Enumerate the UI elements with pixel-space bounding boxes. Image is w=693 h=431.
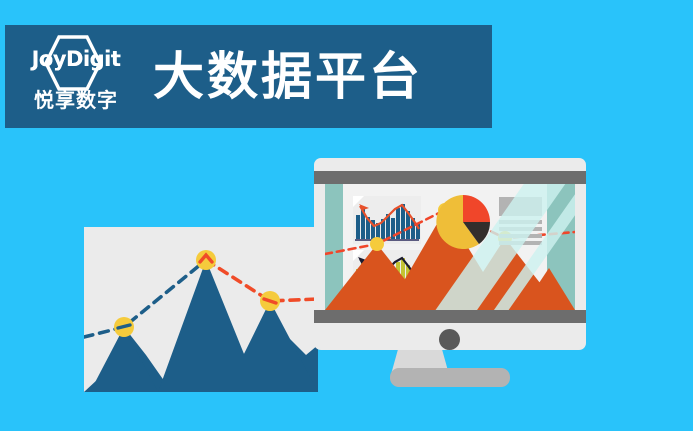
monitor [314, 158, 586, 350]
monitor-bottom-bar [314, 310, 586, 323]
trend-line-red [206, 260, 318, 301]
brand-subtext: 悦享数字 [17, 91, 135, 111]
monitor-top-bar [314, 171, 586, 184]
monitor-stand-base [390, 368, 510, 387]
poster-canvas: JoyDigit 悦享数字 大数据平台 [0, 0, 693, 431]
brand-wordmark: JoyDigit [17, 49, 135, 70]
brand-logo[interactable]: JoyDigit 悦享数字 [17, 33, 135, 121]
monitor-screen [325, 184, 575, 310]
pie-slice-red[interactable] [463, 195, 490, 222]
header-banner: JoyDigit 悦享数字 大数据平台 [5, 25, 492, 128]
page-title: 大数据平台 [153, 51, 423, 102]
power-button-icon[interactable] [439, 329, 460, 350]
left-mountain-chart [84, 227, 318, 392]
left-mountain-panel [84, 227, 318, 392]
data-node[interactable] [370, 237, 384, 251]
